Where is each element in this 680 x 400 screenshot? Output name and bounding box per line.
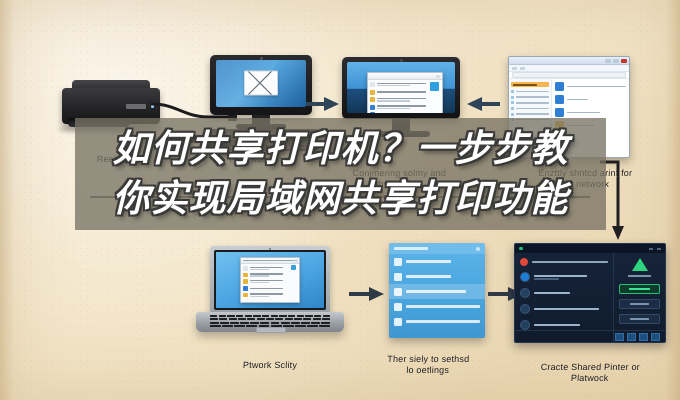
drive-icon	[511, 113, 514, 116]
document-icon	[244, 70, 278, 95]
settings-item[interactable]	[389, 269, 485, 284]
list-item	[370, 105, 440, 110]
panel-right-column	[614, 253, 665, 342]
close-icon[interactable]	[621, 59, 627, 63]
gear-icon	[520, 288, 530, 298]
shield-icon	[520, 304, 530, 314]
page-title: 如何共享打印机？一步步教 你实现局域网共享打印功能	[75, 118, 606, 230]
printer-icon	[520, 272, 530, 282]
close-icon	[295, 259, 298, 261]
panel-columns	[515, 253, 665, 342]
share-icon	[394, 288, 402, 296]
list-item[interactable]	[520, 304, 608, 314]
arrow-laptop-to-settings-icon	[349, 286, 385, 302]
minimize-icon[interactable]	[649, 248, 653, 250]
document-icon	[555, 108, 564, 117]
network-icon	[370, 112, 375, 113]
status-badge	[291, 265, 296, 270]
list-item[interactable]	[555, 108, 626, 117]
wifi-status	[619, 258, 660, 277]
laptop-keyboard	[210, 315, 330, 326]
printer-icon	[370, 82, 375, 87]
panel-title	[394, 247, 428, 249]
list-item	[243, 293, 297, 298]
action-icon[interactable]	[627, 333, 636, 341]
panel-heading-row	[520, 258, 608, 266]
list-item	[370, 97, 440, 102]
sidebar-item[interactable]	[511, 107, 549, 110]
left-edge-shadow	[0, 0, 14, 400]
explorer-toolbar[interactable]	[509, 65, 629, 72]
printer-icon	[555, 82, 564, 91]
sidebar-item[interactable]	[511, 101, 549, 104]
laptop-illustration	[196, 246, 344, 342]
printer-control-panel	[126, 104, 146, 109]
folder-icon	[243, 273, 248, 278]
close-icon[interactable]	[657, 248, 661, 250]
list-item[interactable]	[520, 272, 608, 282]
network-icon	[394, 258, 402, 266]
printer-icon	[555, 95, 564, 104]
minimize-icon[interactable]	[605, 59, 611, 63]
folder-icon	[370, 90, 375, 95]
printer-icon	[394, 273, 402, 281]
action-icon[interactable]	[615, 333, 624, 341]
list-item	[243, 266, 297, 271]
monitor-screen	[347, 62, 455, 113]
info-icon	[520, 335, 524, 338]
title-line-2: 你实现局域网共享打印功能	[113, 174, 569, 224]
caption-settings: Ther siely to sethsd lo oetlings	[357, 354, 498, 376]
printer-properties-dialog	[240, 257, 300, 303]
footer-status	[520, 335, 541, 338]
sidebar-item[interactable]	[511, 113, 549, 116]
arrow-explorer-to-monitor-icon	[466, 96, 500, 112]
folder-icon	[511, 90, 514, 93]
sidebar-item-selected[interactable]	[511, 82, 549, 87]
folder-icon	[370, 97, 375, 102]
action-icon[interactable]	[639, 333, 648, 341]
panel-titlebar	[515, 244, 665, 253]
laptop-lid	[210, 246, 330, 314]
gear-icon	[394, 303, 402, 311]
status-indicator-icon	[519, 247, 523, 251]
pc-monitor-bezel	[210, 55, 312, 115]
explorer-titlebar[interactable]	[509, 57, 629, 65]
settings-item[interactable]	[389, 314, 485, 329]
title-line-1: 如何共享打印机？一步步教	[113, 124, 569, 174]
lock-icon	[394, 318, 402, 326]
printer-list-dialog	[367, 72, 443, 113]
laptop-trackpad	[256, 327, 286, 333]
caption-laptop: Ptwork Sclity	[205, 360, 336, 371]
preview-thumbnail	[430, 82, 439, 91]
monitor-bezel	[342, 57, 460, 119]
printer-icon	[243, 266, 248, 271]
settings-item[interactable]	[389, 299, 485, 314]
panel-header	[389, 243, 485, 254]
list-item	[243, 273, 297, 278]
laptop-screen	[214, 250, 326, 310]
address-input[interactable]	[512, 72, 626, 78]
action-icon[interactable]	[651, 333, 660, 341]
blue-settings-panel[interactable]	[389, 243, 485, 338]
address-bar[interactable]	[509, 72, 629, 79]
sidebar-item[interactable]	[511, 90, 549, 93]
printer-icon	[370, 105, 375, 110]
list-item	[370, 112, 440, 113]
list-item[interactable]	[520, 320, 608, 330]
chevron-down-icon[interactable]	[476, 247, 480, 251]
drive-icon	[511, 107, 514, 110]
pc-screen	[216, 60, 306, 107]
window-controls[interactable]	[649, 248, 661, 250]
right-edge-shadow	[666, 0, 680, 400]
arrow-pc-to-monitor-icon	[306, 96, 340, 112]
settings-item-selected[interactable]	[389, 284, 485, 299]
globe-icon	[520, 320, 530, 330]
list-item	[243, 286, 297, 291]
panel-left-column	[515, 253, 614, 342]
wifi-label	[628, 275, 651, 277]
back-icon[interactable]	[512, 67, 517, 70]
list-item	[243, 279, 297, 284]
folder-icon	[243, 279, 248, 284]
settings-item[interactable]	[389, 254, 485, 269]
secondary-action-button[interactable]	[619, 299, 660, 309]
folder-icon	[243, 293, 248, 298]
caption-network: Cracte Shared Pinter or Platwock	[507, 362, 672, 384]
footer-actions[interactable]	[615, 333, 660, 341]
panel-footer	[515, 330, 665, 342]
alert-icon	[520, 258, 528, 266]
wifi-icon	[632, 258, 648, 271]
primary-action-button[interactable]	[619, 284, 660, 294]
sidebar-item[interactable]	[511, 96, 549, 99]
forward-icon[interactable]	[520, 67, 525, 70]
list-item[interactable]	[555, 82, 626, 91]
list-item[interactable]	[520, 288, 608, 298]
tertiary-action-button[interactable]	[619, 314, 660, 324]
folder-icon	[511, 96, 514, 99]
dialog-titlebar	[368, 73, 442, 80]
dark-network-panel[interactable]	[514, 243, 666, 343]
close-icon	[436, 75, 440, 78]
infographic-canvas: Reelwnn Pres noel arvel Conjmering solmy…	[0, 0, 680, 400]
maximize-icon[interactable]	[613, 59, 619, 63]
list-item[interactable]	[555, 95, 626, 104]
printer-icon	[243, 286, 248, 291]
folder-icon	[511, 101, 514, 104]
